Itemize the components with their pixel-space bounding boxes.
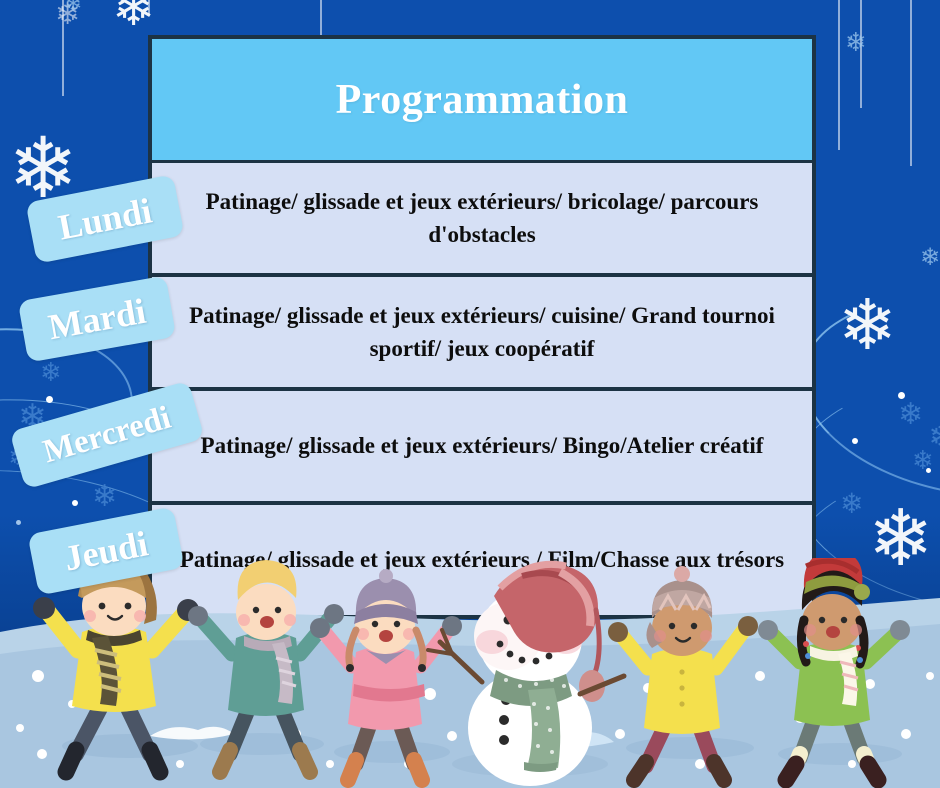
day-label: Mardi (45, 290, 149, 348)
page-title: Programmation (336, 76, 629, 124)
snow-dot (898, 392, 905, 399)
activities-cell: Patinage/ glissade et jeux extérieurs/ c… (178, 299, 786, 366)
table-header: Programmation (148, 35, 816, 163)
table-row: Patinage/ glissade et jeux extérieurs/ c… (148, 277, 816, 391)
activities-cell: Patinage/ glissade et jeux extérieurs/ B… (201, 429, 764, 462)
winter-scene-illustration (0, 558, 940, 788)
snowflake-icon: ❄ (845, 30, 867, 56)
snowflake-thread (910, 0, 912, 166)
snowflake-thread (838, 0, 840, 150)
table-row: Patinage/ glissade et jeux extérieurs/ B… (148, 391, 816, 505)
day-label: Lundi (55, 189, 155, 248)
snow-dot (16, 520, 21, 525)
snowflake-icon: ❄ (920, 245, 940, 269)
programme-table: Programmation Patinage/ glissade et jeux… (148, 35, 816, 619)
snowflake-icon: ❄ (64, 0, 82, 16)
snow-dot (926, 468, 931, 473)
snow-dot (72, 500, 78, 506)
snowflake-icon: ❄ (840, 490, 863, 518)
table-row: Patinage/ glissade et jeux extérieurs/ b… (148, 163, 816, 277)
snow-dot (46, 396, 53, 403)
activities-cell: Patinage/ glissade et jeux extérieurs/ b… (178, 185, 786, 252)
snowflake-icon: ❄ (112, 0, 156, 34)
snow-dot (852, 438, 858, 444)
snowflake-icon: ❄ (92, 482, 117, 512)
winter-program-poster: ❄ ❄ ❄ ❄ ❄ ❄ ❄ ❄ ❄ ❄ ❄ ❄ ❄ ❄ ❄ ❄ ❄ ❄ ❄ ❄ … (0, 0, 940, 788)
snowflake-icon: ❄ (898, 400, 923, 430)
snowflake-icon: ❄ (40, 360, 62, 386)
day-label: Jeudi (61, 522, 152, 579)
